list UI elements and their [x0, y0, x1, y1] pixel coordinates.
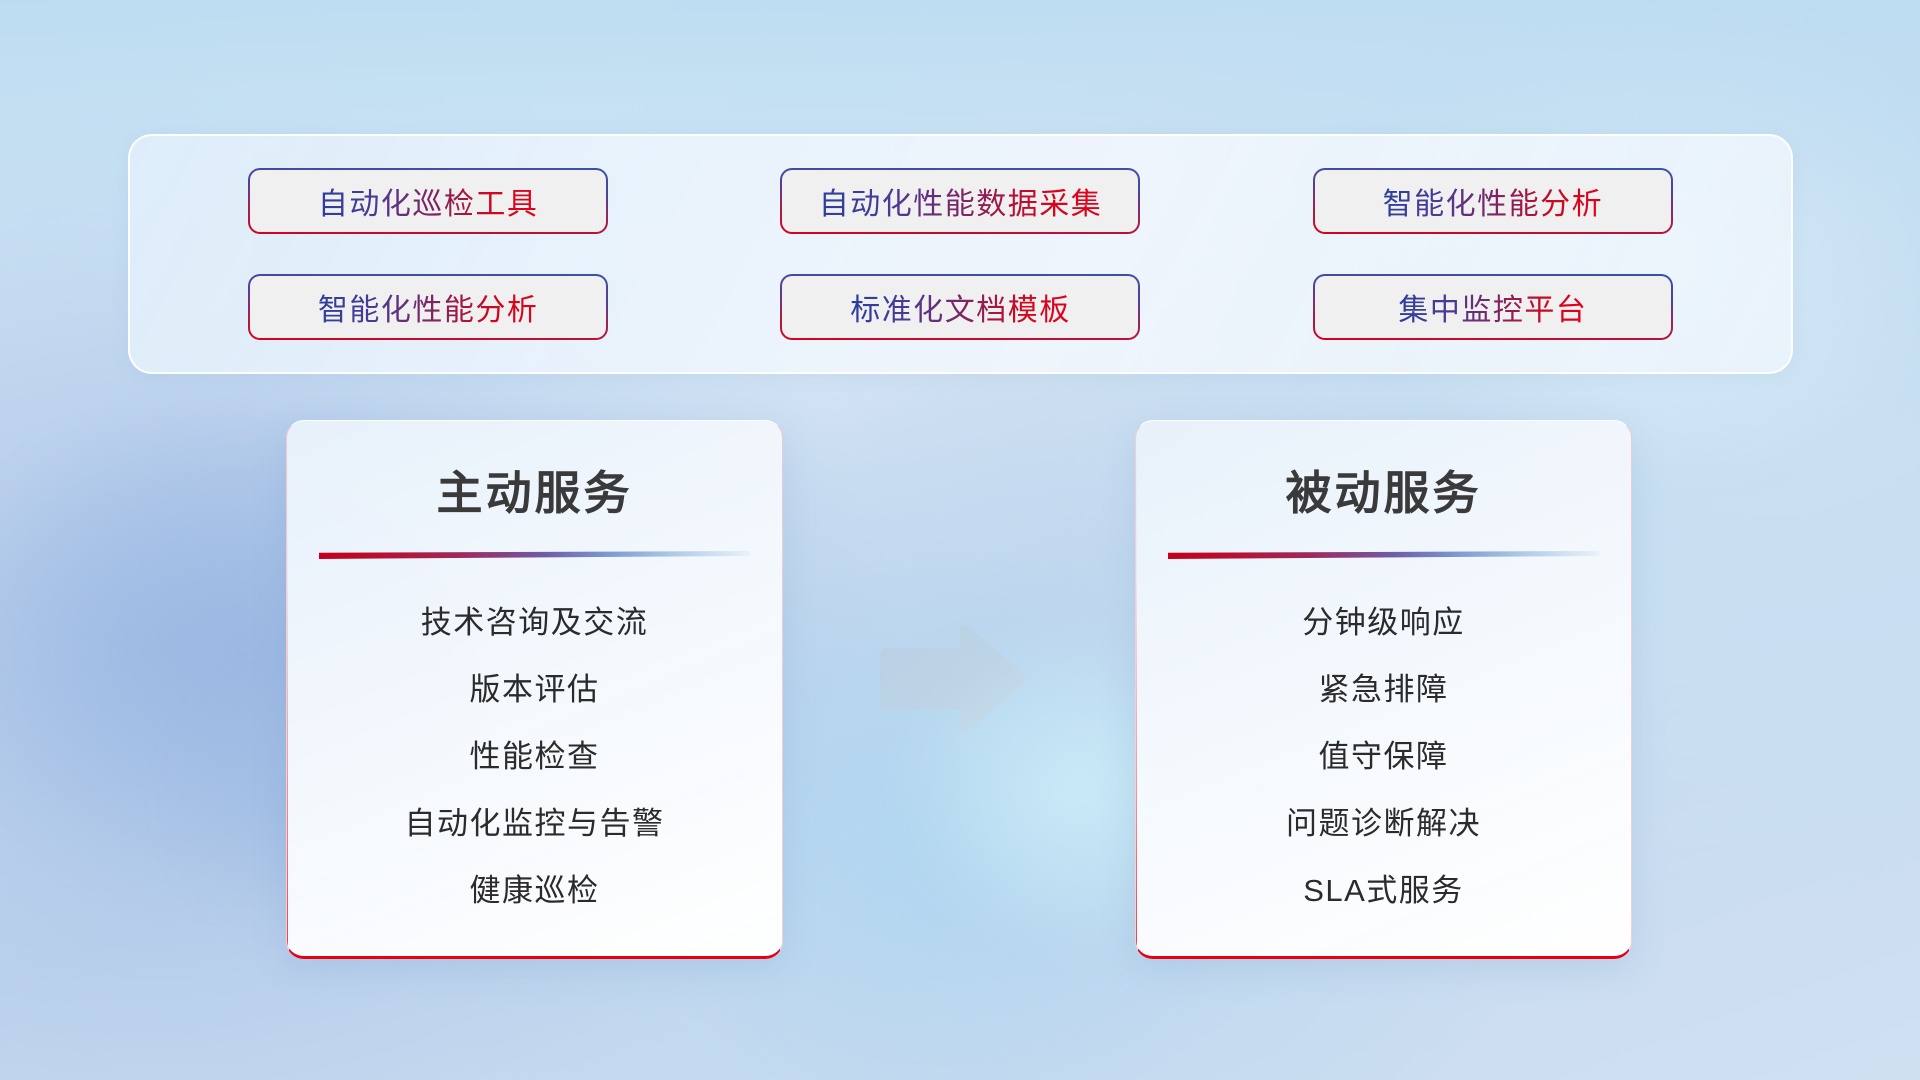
- divider-bar: [319, 551, 751, 559]
- service-card-proactive-divider: [319, 551, 751, 559]
- slide-canvas: 自动化巡检工具 自动化性能数据采集 智能化性能分析 智能化性能分析 标准化文档模…: [0, 0, 1920, 1080]
- right-arrow-icon: [872, 620, 1028, 738]
- list-item: 值守保障: [1136, 723, 1631, 790]
- service-card-proactive-list: 技术咨询及交流 版本评估 性能检查 自动化监控与告警 健康巡检: [287, 589, 782, 924]
- capability-pill-3[interactable]: 智能化性能分析: [1315, 170, 1671, 232]
- capability-pill-4-label: 智能化性能分析: [318, 285, 539, 329]
- capability-pill-1[interactable]: 自动化巡检工具: [250, 170, 606, 232]
- capability-pill-5-label: 标准化文档模板: [850, 285, 1071, 329]
- list-item: SLA式服务: [1136, 857, 1631, 924]
- list-item: 技术咨询及交流: [287, 589, 782, 656]
- list-item: 问题诊断解决: [1136, 790, 1631, 857]
- list-item: 紧急排障: [1136, 656, 1631, 723]
- service-card-reactive-divider: [1168, 551, 1600, 559]
- capability-pill-2-label: 自动化性能数据采集: [819, 179, 1103, 223]
- list-item: 分钟级响应: [1136, 589, 1631, 656]
- capability-pill-2[interactable]: 自动化性能数据采集: [782, 170, 1138, 232]
- capability-pill-3-label: 智能化性能分析: [1383, 179, 1604, 223]
- capability-pill-6[interactable]: 集中监控平台: [1315, 276, 1671, 338]
- list-item: 自动化监控与告警: [287, 790, 782, 857]
- capability-pill-1-label: 自动化巡检工具: [318, 179, 539, 223]
- capability-panel: 自动化巡检工具 自动化性能数据采集 智能化性能分析 智能化性能分析 标准化文档模…: [128, 134, 1793, 374]
- service-card-reactive: 被动服务 分钟级响应 紧急排障 值守保障 问题诊断解决 SLA式服务: [1135, 420, 1632, 959]
- list-item: 健康巡检: [287, 857, 782, 924]
- service-card-proactive: 主动服务 技术咨询及交流 版本评估 性能检查 自动化监控与告警 健康巡检: [286, 420, 783, 959]
- service-card-reactive-title: 被动服务: [1136, 457, 1631, 523]
- capability-pill-4[interactable]: 智能化性能分析: [250, 276, 606, 338]
- service-card-proactive-title: 主动服务: [287, 457, 782, 523]
- list-item: 版本评估: [287, 656, 782, 723]
- capability-pill-6-label: 集中监控平台: [1398, 285, 1587, 329]
- service-card-reactive-list: 分钟级响应 紧急排障 值守保障 问题诊断解决 SLA式服务: [1136, 589, 1631, 924]
- capability-pill-grid: 自动化巡检工具 自动化性能数据采集 智能化性能分析 智能化性能分析 标准化文档模…: [130, 136, 1791, 372]
- divider-bar: [1168, 551, 1600, 559]
- list-item: 性能检查: [287, 723, 782, 790]
- capability-pill-5[interactable]: 标准化文档模板: [782, 276, 1138, 338]
